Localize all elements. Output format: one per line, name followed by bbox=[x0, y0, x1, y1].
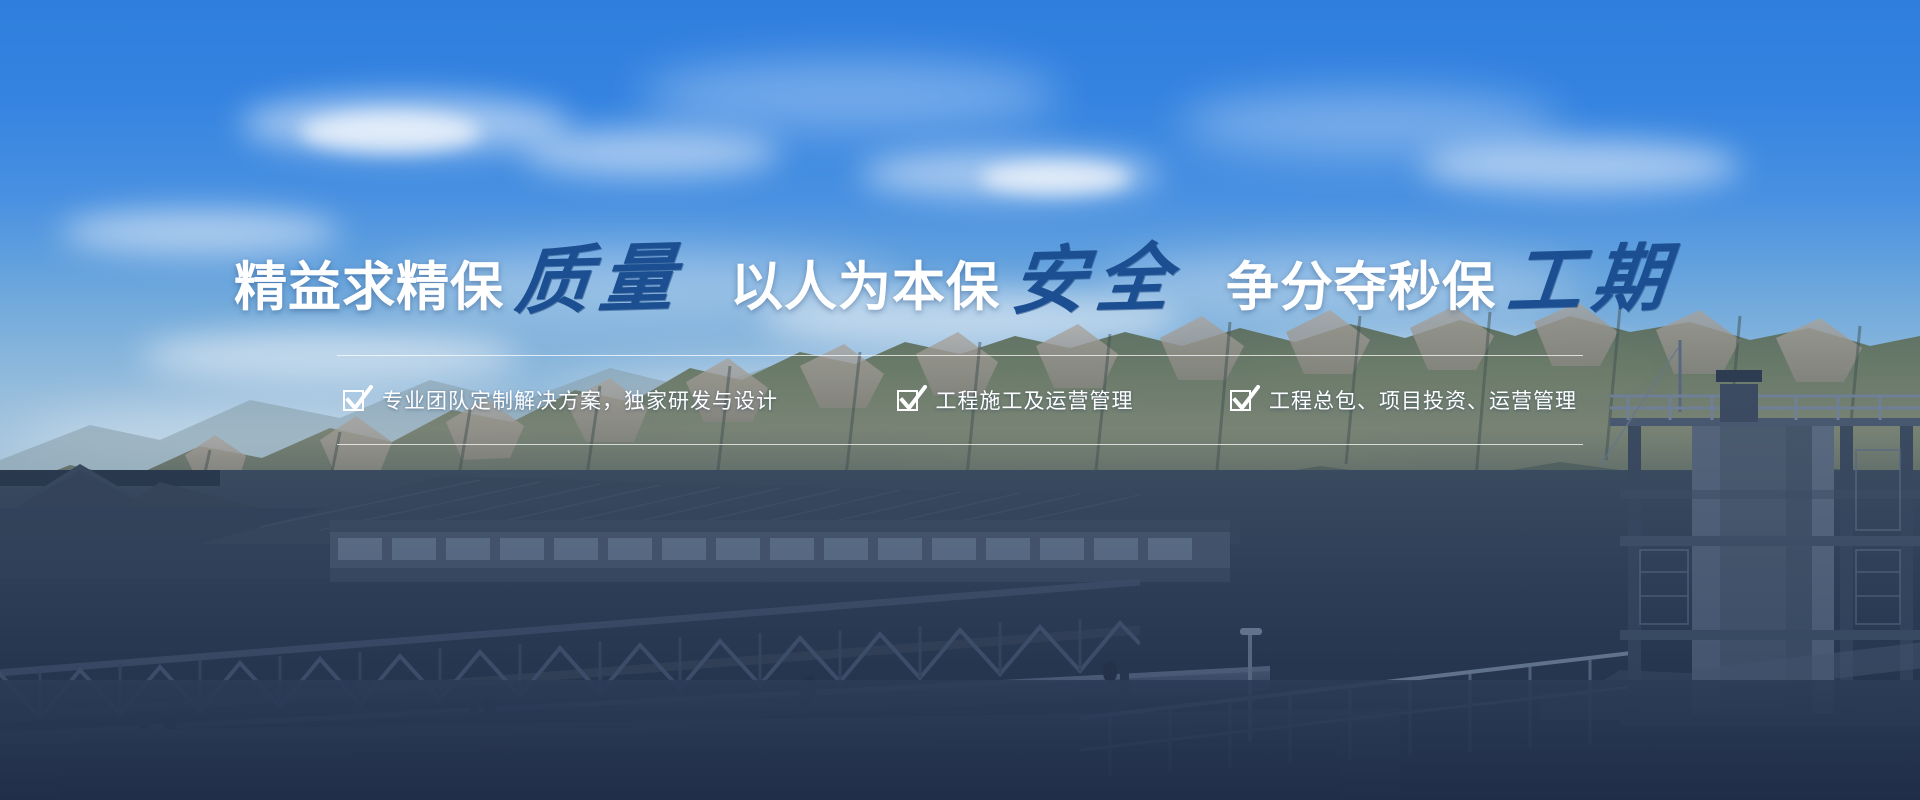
headline-plain-1: 精益求精保 bbox=[234, 261, 504, 314]
headline-calligraphy-1: 质量 bbox=[512, 241, 688, 319]
basin-water bbox=[0, 680, 1920, 800]
feature-label-3: 工程总包、项目投资、运营管理 bbox=[1269, 385, 1577, 415]
feature-label-2: 工程施工及运营管理 bbox=[936, 385, 1134, 415]
headline-calligraphy-2: 安全 bbox=[1008, 241, 1184, 319]
feature-list: 专业团队定制解决方案，独家研发与设计 工程施工及运营管理 bbox=[337, 356, 1583, 444]
plant-ground bbox=[0, 470, 1920, 800]
checkbox-checked-icon bbox=[1230, 390, 1251, 411]
headline-segment-1: 精益求精保 质量 bbox=[234, 243, 694, 317]
features-block: 专业团队定制解决方案，独家研发与设计 工程施工及运营管理 bbox=[337, 355, 1583, 445]
feature-item-2[interactable]: 工程施工及运营管理 bbox=[897, 385, 1134, 415]
headline-segment-3: 争分夺秒保 工期 bbox=[1226, 243, 1686, 317]
light-pole-head bbox=[1240, 628, 1262, 635]
divider-bottom bbox=[337, 444, 1583, 445]
checkbox-checked-icon bbox=[897, 390, 918, 411]
checkbox-checked-icon bbox=[343, 390, 364, 411]
feature-item-3[interactable]: 工程总包、项目投资、运营管理 bbox=[1230, 385, 1577, 415]
feature-item-1[interactable]: 专业团队定制解决方案，独家研发与设计 bbox=[343, 385, 778, 415]
headline-plain-2: 以人为本保 bbox=[730, 261, 1000, 314]
feature-label-1: 专业团队定制解决方案，独家研发与设计 bbox=[382, 385, 778, 415]
headline-plain-3: 争分夺秒保 bbox=[1226, 261, 1496, 314]
hero-banner: 精益求精保 质量 以人为本保 安全 争分夺秒保 工期 bbox=[0, 0, 1920, 800]
headline-segment-2: 以人为本保 安全 bbox=[730, 243, 1190, 317]
headline: 精益求精保 质量 以人为本保 安全 争分夺秒保 工期 bbox=[234, 243, 1686, 317]
headline-calligraphy-3: 工期 bbox=[1504, 241, 1680, 319]
